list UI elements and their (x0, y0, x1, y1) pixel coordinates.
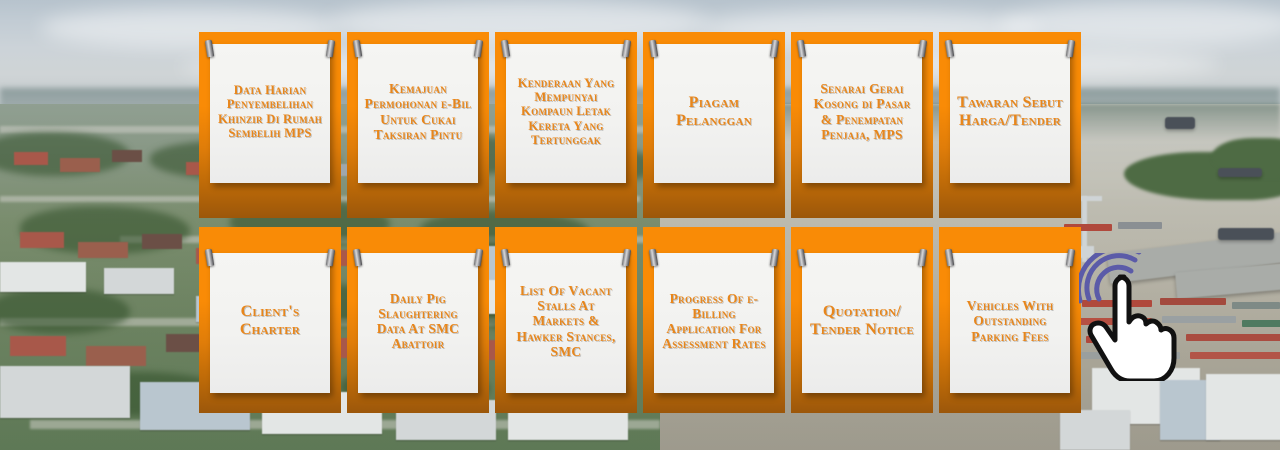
shipping-container (1190, 352, 1280, 359)
building (0, 262, 86, 292)
paper-note: Client's Charter (210, 253, 330, 393)
binder-clip-icon (770, 249, 780, 267)
rooftop (112, 150, 142, 162)
card-label: Vehicles With Outstanding Parking Fees (955, 298, 1065, 343)
card-label: Kemajuan Permohonan e-Bil Untuk Cukai Ta… (363, 81, 473, 141)
paper-note: Tawaran Sebut Harga/Tender (950, 44, 1070, 183)
shipping-container (1080, 352, 1180, 359)
card-label: Quotation/ Tender Notice (807, 303, 917, 339)
barge (1218, 168, 1262, 177)
rooftop (78, 242, 128, 258)
binder-clip-icon (501, 249, 511, 267)
service-card-quotation-tender-ms[interactable]: Tawaran Sebut Harga/Tender (939, 32, 1081, 218)
services-grid: Data Harian Penyembelihan Khinzir Di Rum… (199, 32, 1081, 419)
binder-clip-icon (1066, 249, 1076, 267)
shipping-container (1162, 316, 1236, 323)
shipping-container (1232, 302, 1280, 309)
service-card-quotation-tender-en[interactable]: Quotation/ Tender Notice (791, 227, 933, 413)
shipping-container (1082, 300, 1152, 307)
paper-note: Kenderaan Yang Mempunyai Kompaun Letak K… (506, 44, 626, 183)
service-card-vacant-stalls-list-ms[interactable]: Senarai Gerai Kosong di Pasar & Penempat… (791, 32, 933, 218)
binder-clip-icon (649, 40, 659, 58)
binder-clip-icon (622, 40, 632, 58)
shipping-container (1186, 334, 1280, 341)
rooftop (86, 346, 146, 366)
service-card-outstanding-parking-compound-ms[interactable]: Kenderaan Yang Mempunyai Kompaun Letak K… (495, 32, 637, 218)
binder-clip-icon (918, 40, 928, 58)
paper-note: Data Harian Penyembelihan Khinzir Di Rum… (210, 44, 330, 183)
binder-clip-icon (474, 40, 484, 58)
paper-note: Quotation/ Tender Notice (802, 253, 922, 393)
binder-clip-icon (770, 40, 780, 58)
rooftop (60, 158, 100, 172)
paper-note: Kemajuan Permohonan e-Bil Untuk Cukai Ta… (358, 44, 478, 183)
shipping-container (1118, 222, 1162, 229)
service-card-outstanding-parking-fees-en[interactable]: Vehicles With Outstanding Parking Fees (939, 227, 1081, 413)
card-label: Client's Charter (215, 303, 325, 339)
tree-cluster (0, 288, 130, 334)
card-label: List Of Vacant Stalls At Markets & Hawke… (511, 283, 621, 359)
binder-clip-icon (205, 40, 215, 58)
binder-clip-icon (797, 40, 807, 58)
paper-note: Daily Pig Slaughtering Data At SMC Abatt… (358, 253, 478, 393)
card-label: Senarai Gerai Kosong di Pasar & Penempat… (807, 81, 917, 141)
service-card-daily-pig-slaughter-data-ms[interactable]: Data Harian Penyembelihan Khinzir Di Rum… (199, 32, 341, 218)
service-card-daily-pig-slaughter-data-en[interactable]: Daily Pig Slaughtering Data At SMC Abatt… (347, 227, 489, 413)
rooftop (10, 336, 66, 356)
binder-clip-icon (945, 249, 955, 267)
card-label: Kenderaan Yang Mempunyai Kompaun Letak K… (511, 76, 621, 146)
shipping-container (1072, 318, 1152, 325)
binder-clip-icon (353, 249, 363, 267)
rooftop (14, 152, 48, 165)
binder-clip-icon (205, 249, 215, 267)
binder-clip-icon (622, 249, 632, 267)
service-card-vacant-stalls-list-en[interactable]: List Of Vacant Stalls At Markets & Hawke… (495, 227, 637, 413)
binder-clip-icon (649, 249, 659, 267)
service-card-ebilling-progress-en[interactable]: Progress Of e-Billing Application For As… (643, 227, 785, 413)
service-card-client-charter-ms[interactable]: Piagam Pelanggan (643, 32, 785, 218)
card-label: Piagam Pelanggan (659, 94, 769, 130)
binder-clip-icon (326, 40, 336, 58)
service-card-ebill-assessment-progress-ms[interactable]: Kemajuan Permohonan e-Bil Untuk Cukai Ta… (347, 32, 489, 218)
binder-clip-icon (918, 249, 928, 267)
page-stage: Data Harian Penyembelihan Khinzir Di Rum… (0, 0, 1280, 450)
building (0, 366, 130, 418)
card-label: Daily Pig Slaughtering Data At SMC Abatt… (363, 291, 473, 351)
shipping-container (1160, 298, 1226, 305)
moored-vessel (1218, 228, 1274, 240)
binder-clip-icon (326, 249, 336, 267)
card-label: Data Harian Penyembelihan Khinzir Di Rum… (215, 83, 325, 139)
binder-clip-icon (945, 40, 955, 58)
rooftop (20, 232, 64, 248)
card-label: Tawaran Sebut Harga/Tender (955, 94, 1065, 130)
binder-clip-icon (1066, 40, 1076, 58)
binder-clip-icon (353, 40, 363, 58)
paper-note: Senarai Gerai Kosong di Pasar & Penempat… (802, 44, 922, 183)
binder-clip-icon (501, 40, 511, 58)
paper-note: Vehicles With Outstanding Parking Fees (950, 253, 1070, 393)
shipping-container (1242, 320, 1280, 327)
shipping-container (1086, 336, 1174, 343)
building (104, 268, 174, 294)
boat (1165, 117, 1195, 129)
paper-note: List Of Vacant Stalls At Markets & Hawke… (506, 253, 626, 393)
rooftop (142, 234, 182, 249)
card-label: Progress Of e-Billing Application For As… (659, 291, 769, 351)
binder-clip-icon (797, 249, 807, 267)
port-building (1206, 374, 1280, 440)
paper-note: Progress Of e-Billing Application For As… (654, 253, 774, 393)
binder-clip-icon (474, 249, 484, 267)
paper-note: Piagam Pelanggan (654, 44, 774, 183)
service-card-client-charter-en[interactable]: Client's Charter (199, 227, 341, 413)
